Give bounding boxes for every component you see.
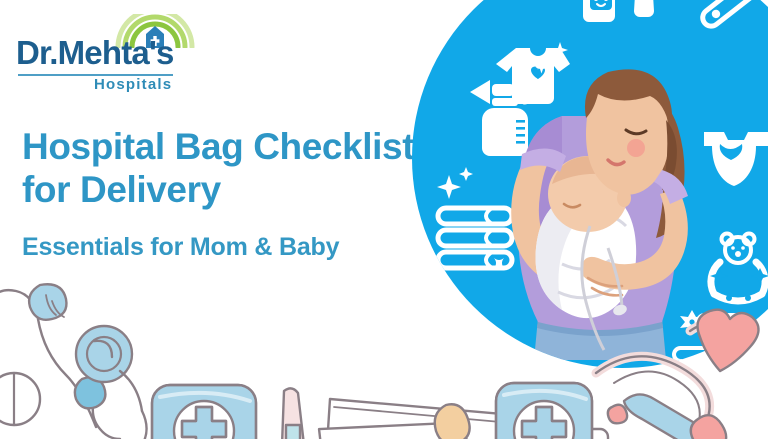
logo[interactable]: Dr.Mehta's Hospitals — [16, 14, 216, 84]
safety-pin-icon — [696, 0, 762, 33]
first-aid-kit-icon — [152, 385, 256, 439]
folded-towels-icon — [438, 208, 512, 268]
logo-brand-text: Dr.Mehta's — [16, 36, 174, 69]
lotion-bottle-icon — [583, 0, 615, 22]
medical-supplies-border — [0, 279, 768, 439]
first-aid-kit-icon-2 — [496, 383, 608, 439]
banner-root: Dr.Mehta's Hospitals Hospital Bag Checkl… — [0, 0, 768, 439]
page-title-line1: Hospital Bag Checklist — [22, 126, 422, 169]
page-title: Hospital Bag Checklist for Delivery — [22, 126, 422, 212]
headline-block: Hospital Bag Checklist for Delivery Esse… — [22, 126, 422, 262]
page-subtitle: Essentials for Mom & Baby — [22, 232, 422, 262]
diaper-icon — [704, 132, 768, 186]
cream-tube-icon — [634, 0, 654, 17]
thermometer-icon — [282, 388, 304, 439]
pill-icon — [0, 373, 40, 425]
heart-icon — [698, 310, 759, 371]
page-title-line2: for Delivery — [22, 169, 422, 212]
logo-tagline: Hospitals — [94, 76, 172, 93]
